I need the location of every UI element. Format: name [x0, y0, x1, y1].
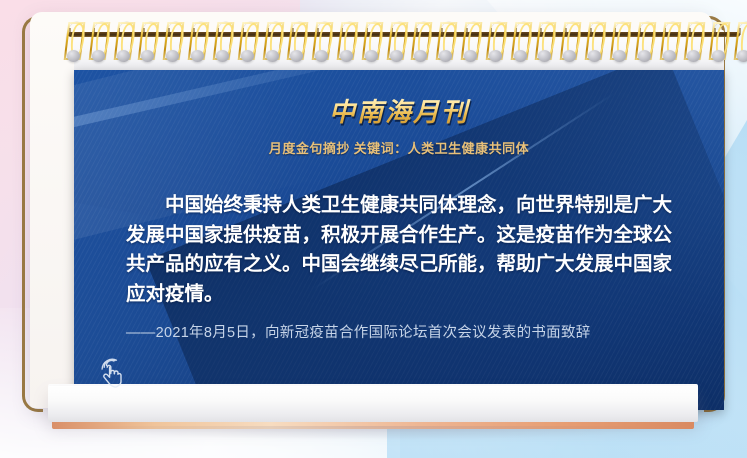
- spiral-ring-tick: [268, 28, 270, 35]
- spiral-ring-cap: [414, 50, 427, 62]
- spiral-ring-tick: [243, 28, 245, 35]
- spiral-ring: [513, 22, 528, 62]
- spiral-ring: [488, 22, 503, 62]
- panel-content: 中南海月刊 月度金句摘抄 关键词：人类卫生健康共同体 中国始终秉持人类卫生健康共…: [74, 92, 724, 344]
- spiral-ring-tick: [317, 28, 319, 35]
- spiral-ring-cap: [439, 50, 452, 62]
- spiral-ring-tick: [119, 28, 121, 35]
- calendar-scene: 中南海月刊 月度金句摘抄 关键词：人类卫生健康共同体 中国始终秉持人类卫生健康共…: [0, 0, 747, 458]
- spiral-ring-tick: [689, 28, 691, 35]
- spiral-ring-tick: [168, 28, 170, 35]
- spiral-ring: [91, 22, 106, 62]
- spiral-ring-cap: [663, 50, 676, 62]
- spiral-ring: [66, 22, 81, 62]
- spiral-ring-cap: [390, 50, 403, 62]
- spiral-ring: [587, 22, 602, 62]
- spiral-ring-tick: [367, 28, 369, 35]
- calendar-shelf-shadow: [60, 426, 686, 440]
- spiral-ring-tick: [590, 28, 592, 35]
- spiral-ring-tick: [441, 28, 443, 35]
- spiral-ring-tick: [665, 28, 667, 35]
- spiral-ring-tick: [516, 28, 518, 35]
- spiral-ring-cap: [514, 50, 527, 62]
- spiral-ring-tick: [69, 28, 71, 35]
- spiral-ring-tick: [466, 28, 468, 35]
- spiral-ring-cap: [166, 50, 179, 62]
- spiral-ring: [662, 22, 677, 62]
- spiral-ring-cap: [737, 50, 747, 62]
- spiral-ring-cap: [538, 50, 551, 62]
- spiral-ring: [463, 22, 478, 62]
- spiral-ring-tick: [739, 28, 741, 35]
- spiral-ring-tick: [491, 28, 493, 35]
- spiral-ring-tick: [143, 28, 145, 35]
- spiral-ring: [140, 22, 155, 62]
- tap-hand-icon[interactable]: [96, 356, 130, 396]
- spiral-ring-tick: [94, 28, 96, 35]
- spiral-ring: [116, 22, 131, 62]
- spiral-ring-cap: [489, 50, 502, 62]
- spiral-ring: [314, 22, 329, 62]
- desk-calendar-card: 中南海月刊 月度金句摘抄 关键词：人类卫生健康共同体 中国始终秉持人类卫生健康共…: [30, 12, 712, 408]
- spiral-ring-tick: [218, 28, 220, 35]
- spiral-ring-tick: [292, 28, 294, 35]
- spiral-ring-cap: [365, 50, 378, 62]
- quote-attribution: ——2021年8月5日，向新冠疫苗合作国际论坛首次会议发表的书面致辞: [126, 323, 672, 345]
- spiral-ring-cap: [266, 50, 279, 62]
- spiral-ring-cap: [67, 50, 80, 62]
- spiral-ring-cap: [638, 50, 651, 62]
- spiral-ring: [562, 22, 577, 62]
- spiral-ring: [265, 22, 280, 62]
- spiral-ring-cap: [315, 50, 328, 62]
- spiral-ring: [413, 22, 428, 62]
- spiral-ring-tick: [714, 28, 716, 35]
- spiral-ring-cap: [687, 50, 700, 62]
- spiral-ring-tick: [540, 28, 542, 35]
- spiral-ring-cap: [613, 50, 626, 62]
- spiral-ring-cap: [340, 50, 353, 62]
- page-subtitle: 月度金句摘抄 关键词：人类卫生健康共同体: [74, 138, 724, 157]
- spiral-ring-cap: [117, 50, 130, 62]
- spiral-ring-cap: [464, 50, 477, 62]
- spiral-ring-tick: [565, 28, 567, 35]
- spiral-ring-cap: [712, 50, 725, 62]
- spiral-ring: [637, 22, 652, 62]
- spiral-ring: [240, 22, 255, 62]
- spiral-ring-tick: [640, 28, 642, 35]
- spiral-ring-tick: [416, 28, 418, 35]
- spiral-ring: [364, 22, 379, 62]
- spiral-ring-tick: [615, 28, 617, 35]
- spiral-ring-cap: [191, 50, 204, 62]
- spiral-ring: [339, 22, 354, 62]
- page-title: 中南海月刊: [74, 92, 724, 129]
- spiral-ring: [438, 22, 453, 62]
- spiral-ring: [389, 22, 404, 62]
- spiral-ring-cap: [588, 50, 601, 62]
- spiral-ring: [537, 22, 552, 62]
- spiral-ring-cap: [290, 50, 303, 62]
- spiral-ring: [736, 22, 747, 62]
- calendar-shelf: [48, 386, 698, 422]
- spiral-ring: [165, 22, 180, 62]
- spiral-ring: [190, 22, 205, 62]
- content-panel: 中南海月刊 月度金句摘抄 关键词：人类卫生健康共同体 中国始终秉持人类卫生健康共…: [74, 70, 724, 410]
- quote-body: 中国始终秉持人类卫生健康共同体理念，向世界特别是广大发展中国家提供疫苗，积极开展…: [126, 191, 672, 310]
- spiral-ring-cap: [141, 50, 154, 62]
- spiral-ring-tick: [342, 28, 344, 35]
- spiral-ring-cap: [216, 50, 229, 62]
- spiral-ring-cap: [92, 50, 105, 62]
- spiral-ring: [289, 22, 304, 62]
- spiral-ring-cap: [241, 50, 254, 62]
- spiral-ring: [686, 22, 701, 62]
- spiral-ring: [215, 22, 230, 62]
- spiral-ring-cap: [563, 50, 576, 62]
- spiral-ring-tick: [392, 28, 394, 35]
- spiral-ring: [711, 22, 726, 62]
- spiral-ring: [612, 22, 627, 62]
- spiral-ring-tick: [193, 28, 195, 35]
